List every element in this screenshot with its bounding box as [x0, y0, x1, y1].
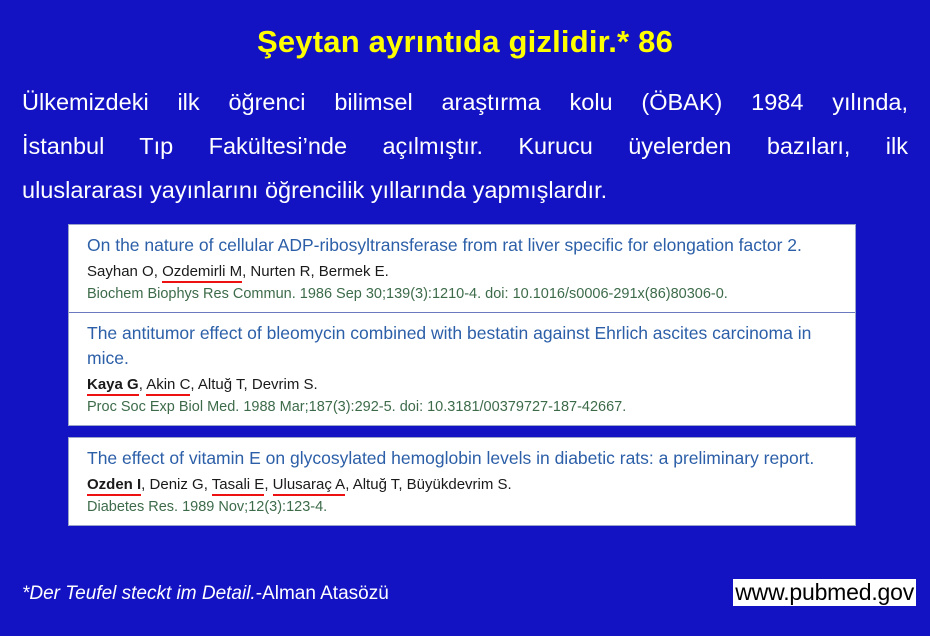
pubmed-results-list: On the nature of cellular ADP-ribosyltra…	[68, 224, 856, 526]
citation-journal: Biochem Biophys Res Commun. 1986 Sep 30;…	[87, 284, 841, 305]
citation-authors: Sayhan O, Ozdemirli M, Nurten R, Bermek …	[87, 261, 841, 282]
author-name[interactable]: Bermek E.	[319, 263, 389, 280]
author-separator: ,	[204, 476, 212, 493]
author-separator: ,	[310, 263, 318, 280]
author-name[interactable]: Sayhan O	[87, 263, 154, 280]
intro-line-1: Ülkemizdeki ilk öğrenci bilimsel araştır…	[22, 80, 908, 124]
result-panel: The effect of vitamin E on glycosylated …	[68, 437, 856, 526]
citation-title-link[interactable]: The effect of vitamin E on glycosylated …	[87, 446, 841, 471]
intro-line-3: uluslararası yayınlarını öğrencilik yıll…	[22, 168, 908, 212]
intro-line-2: İstanbul Tıp Fakültesi’nde açılmıştır. K…	[22, 124, 908, 168]
author-name[interactable]: Kaya G	[87, 376, 139, 396]
citation-title-link[interactable]: The antitumor effect of bleomycin combin…	[87, 321, 841, 371]
citation-item[interactable]: The effect of vitamin E on glycosylated …	[69, 438, 855, 525]
author-separator: ,	[141, 476, 149, 493]
citation-authors: Kaya G, Akin C, Altuğ T, Devrim S.	[87, 374, 841, 395]
author-name[interactable]: Altuğ T	[198, 376, 244, 393]
author-name[interactable]: Akin C	[146, 376, 190, 396]
footnote-italic-text: *Der Teufel steckt im Detail.	[22, 583, 256, 604]
citation-item[interactable]: On the nature of cellular ADP-ribosyltra…	[69, 225, 855, 312]
author-name[interactable]: Büyükdevrim S.	[407, 476, 512, 493]
author-separator: ,	[154, 263, 162, 280]
citation-journal: Proc Soc Exp Biol Med. 1988 Mar;187(3):2…	[87, 397, 841, 418]
citation-title-link[interactable]: On the nature of cellular ADP-ribosyltra…	[87, 233, 841, 258]
author-name[interactable]: Tasali E	[212, 476, 265, 496]
intro-paragraph: Ülkemizdeki ilk öğrenci bilimsel araştır…	[22, 80, 908, 212]
author-separator: ,	[244, 376, 252, 393]
author-name[interactable]: Altuğ T	[353, 476, 399, 493]
author-separator: ,	[345, 476, 353, 493]
slide-root: Şeytan ayrıntıda gizlidir.* 86 Ülkemizde…	[0, 0, 930, 636]
author-name[interactable]: Devrim S.	[252, 376, 318, 393]
author-name[interactable]: Ulusaraç A	[273, 476, 346, 496]
author-name[interactable]: Ozdemirli M	[162, 263, 242, 283]
author-name[interactable]: Deniz G	[150, 476, 204, 493]
citation-authors: Ozden I, Deniz G, Tasali E, Ulusaraç A, …	[87, 474, 841, 495]
footnote-attribution: -Alman Atasözü	[256, 583, 389, 604]
page-title: Şeytan ayrıntıda gizlidir.* 86	[0, 26, 930, 59]
result-panel: On the nature of cellular ADP-ribosyltra…	[68, 224, 856, 426]
author-separator: ,	[190, 376, 198, 393]
author-separator: ,	[264, 476, 272, 493]
author-separator: ,	[398, 476, 406, 493]
citation-item[interactable]: The antitumor effect of bleomycin combin…	[69, 312, 855, 425]
author-name[interactable]: Nurten R	[250, 263, 310, 280]
author-name[interactable]: Ozden I	[87, 476, 141, 496]
pubmed-watermark: www.pubmed.gov	[733, 579, 916, 606]
citation-journal: Diabetes Res. 1989 Nov;12(3):123-4.	[87, 497, 841, 518]
footnote: *Der Teufel steckt im Detail.-Alman Atas…	[22, 583, 389, 605]
